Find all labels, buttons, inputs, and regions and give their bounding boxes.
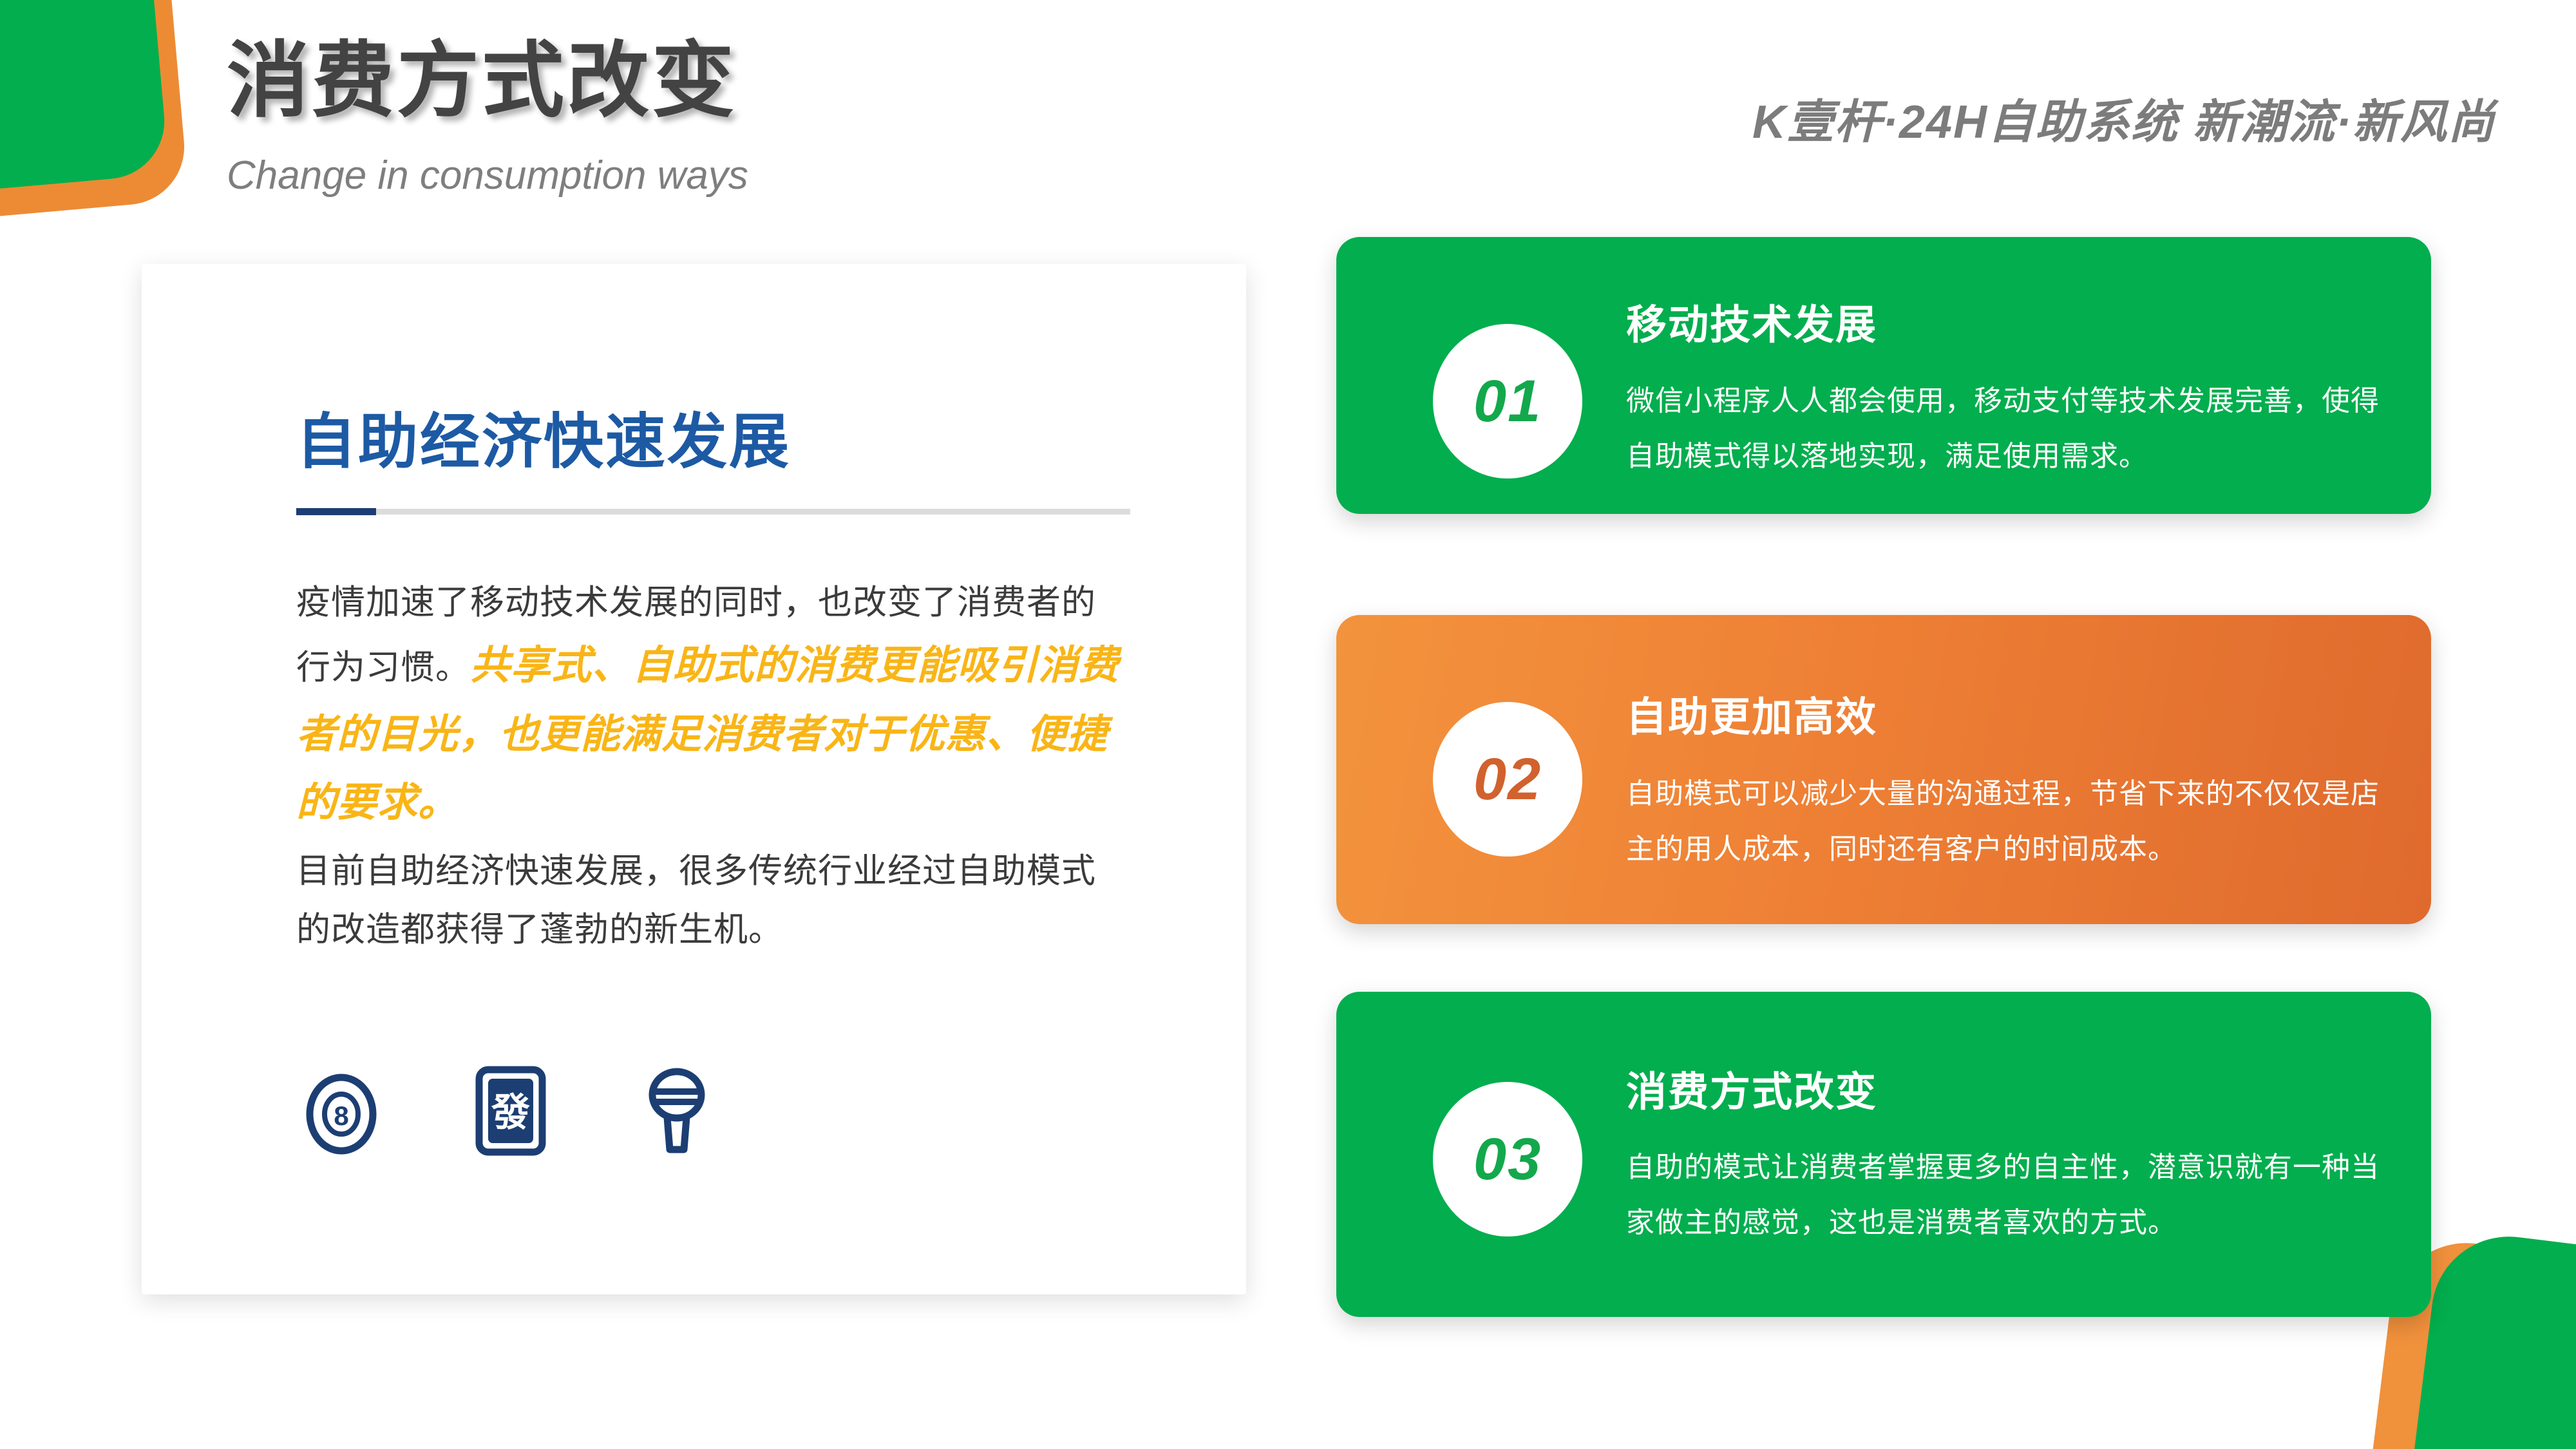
card-body: 微信小程序人人都会使用，移动支付等技术发展完善，使得自助模式得以落地实现，满足使… <box>1626 374 2399 484</box>
mahjong-tile-fa-icon[interactable]: 發 <box>475 1066 546 1156</box>
card-title: 移动技术发展 <box>1626 292 1877 351</box>
feature-card-02[interactable]: 02 自助更加高效 自助模式可以减少大量的沟通过程，节省下来的不仅仅是店主的用人… <box>1336 615 2431 924</box>
card-body: 自助的模式让消费者掌握更多的自主性，潜意识就有一种当家做主的感觉，这也是消费者喜… <box>1626 1140 2399 1251</box>
card-title: 消费方式改变 <box>1626 1059 1877 1118</box>
left-body-paragraph-2: 目前自助经济快速发展，很多传统行业经过自助模式的改造都获得了蓬勃的新生机。 <box>296 842 1130 959</box>
card-title: 自助更加高效 <box>1626 685 1877 743</box>
svg-text:發: 發 <box>491 1092 530 1134</box>
divider <box>296 509 1130 515</box>
page-subtitle: Change in consumption ways <box>227 156 748 196</box>
card-number-badge: 01 <box>1433 324 1582 478</box>
feature-card-01[interactable]: 01 移动技术发展 微信小程序人人都会使用，移动支付等技术发展完善，使得自助模式… <box>1336 237 2431 514</box>
slide-root: 消费方式改变 Change in consumption ways K壹杆·24… <box>0 0 2576 1449</box>
card-number-badge: 02 <box>1433 702 1582 857</box>
left-card-title: 自助经济快速发展 <box>296 393 791 480</box>
divider-accent <box>296 508 376 515</box>
svg-text:8: 8 <box>334 1101 348 1131</box>
card-number-badge: 03 <box>1433 1082 1582 1236</box>
feature-card-03[interactable]: 03 消费方式改变 自助的模式让消费者掌握更多的自主性，潜意识就有一种当家做主的… <box>1336 992 2431 1317</box>
microphone-icon[interactable] <box>641 1066 712 1156</box>
brand-tagline: K壹杆·24H自助系统 新潮流·新风尚 <box>1752 84 2495 151</box>
icon-row: 8 發 <box>303 1066 712 1156</box>
billiard-eight-ball-icon[interactable]: 8 <box>303 1072 380 1156</box>
card-body: 自助模式可以减少大量的沟通过程，节省下来的不仅仅是店主的用人成本，同时还有客户的… <box>1626 766 2399 877</box>
left-content-card: 自助经济快速发展 疫情加速了移动技术发展的同时，也改变了消费者的行为习惯。共享式… <box>142 264 1246 1294</box>
page-title: 消费方式改变 <box>227 40 737 122</box>
left-card-body: 疫情加速了移动技术发展的同时，也改变了消费者的行为习惯。共享式、自助式的消费更能… <box>296 573 1130 959</box>
